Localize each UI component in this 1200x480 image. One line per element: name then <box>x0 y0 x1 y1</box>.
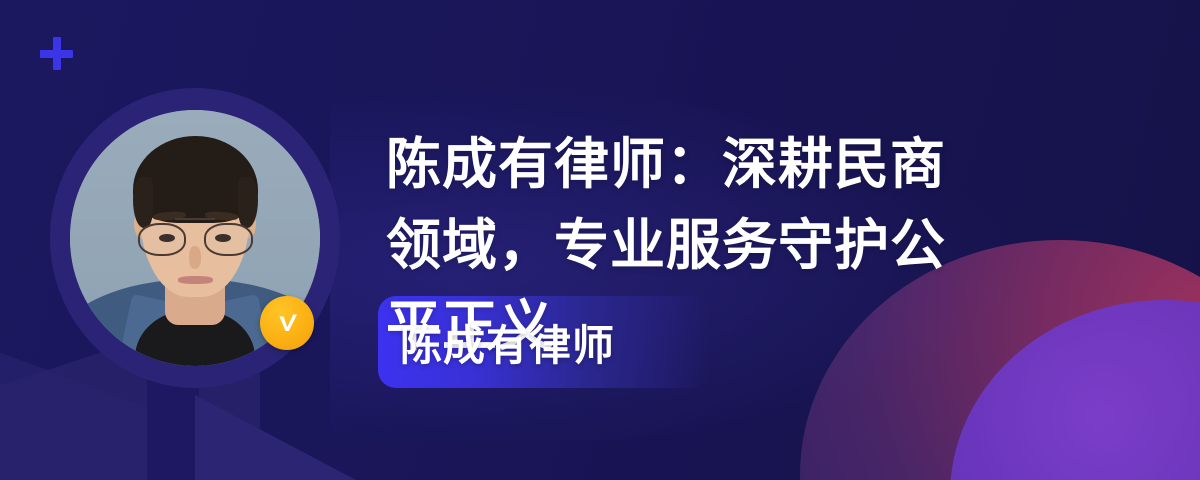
portrait-hair-side-left <box>133 177 153 228</box>
portrait-glasses-bridge <box>175 218 215 221</box>
lawyer-profile-banner: 陈成有律师：深耕民商领域，专业服务守护公平正义 陈成有律师 <box>0 0 1200 480</box>
portrait-nose <box>189 246 202 269</box>
plus-icon <box>40 37 73 70</box>
portrait-mouth <box>178 276 213 284</box>
verified-check-icon <box>260 296 314 350</box>
portrait-lens-right <box>204 223 252 256</box>
name-badge-label: 陈成有律师 <box>400 296 730 388</box>
portrait-hair-side-right <box>238 177 258 228</box>
portrait-lens-left <box>138 223 186 256</box>
